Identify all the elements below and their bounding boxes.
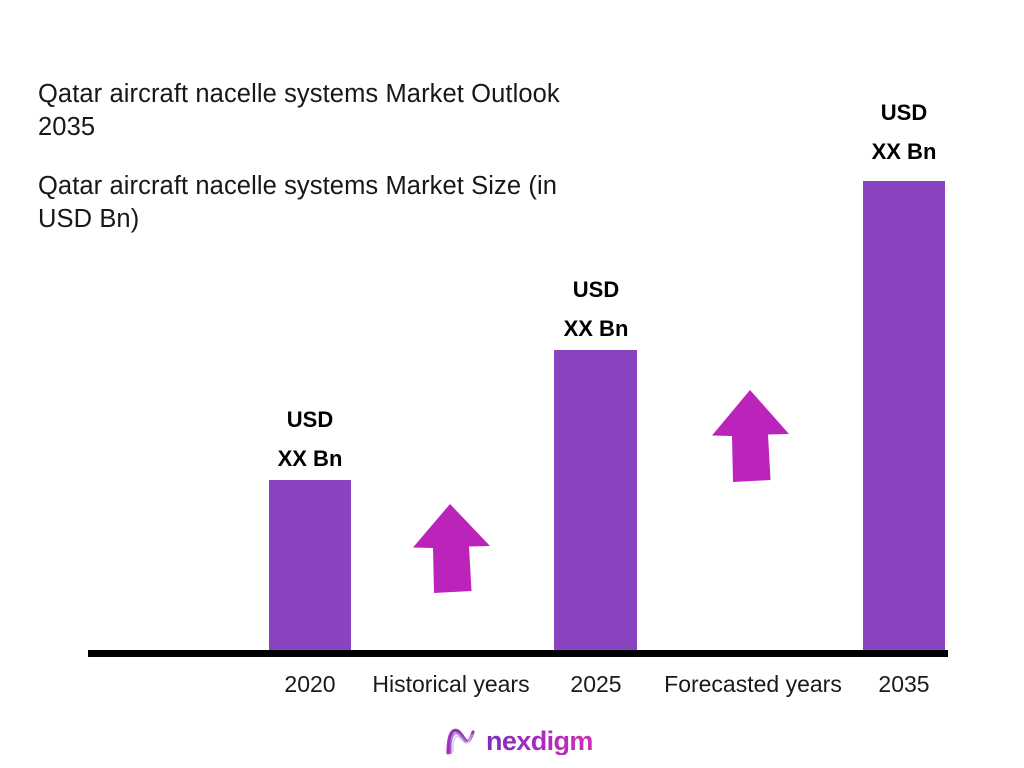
bar-2020[interactable] [269, 480, 351, 651]
bar-value-label-2020: USD XX Bn [255, 400, 365, 478]
axis-tick-2035: 2035 [849, 671, 959, 698]
bar-value-label-2035-line2: XX Bn [849, 132, 959, 171]
bar-value-label-2035: USD XX Bn [849, 93, 959, 171]
axis-tick-2025: 2025 [541, 671, 651, 698]
bar-2025[interactable] [554, 350, 637, 651]
bar-value-label-2020-line1: USD [255, 400, 365, 439]
x-axis-line [88, 650, 948, 657]
up-arrow-historical [411, 502, 491, 594]
axis-label-historical-years: Historical years [358, 671, 544, 698]
bar-value-label-2035-line1: USD [849, 93, 959, 132]
axis-tick-2020: 2020 [255, 671, 365, 698]
bar-value-label-2025: USD XX Bn [541, 270, 651, 348]
bar-value-label-2025-line1: USD [541, 270, 651, 309]
nexdigm-wordmark: nexdigm [486, 728, 593, 755]
bar-chart: USD XX Bn USD XX Bn USD XX Bn 2020 Histo… [0, 0, 1024, 768]
bar-value-label-2025-line2: XX Bn [541, 309, 651, 348]
bar-value-label-2020-line2: XX Bn [255, 439, 365, 478]
nexdigm-wave-mark-icon [443, 723, 479, 759]
axis-label-forecasted-years: Forecasted years [653, 671, 853, 698]
up-arrow-forecasted [710, 388, 790, 484]
bar-2035[interactable] [863, 181, 945, 651]
nexdigm-logo[interactable]: nexdigm [443, 719, 593, 763]
